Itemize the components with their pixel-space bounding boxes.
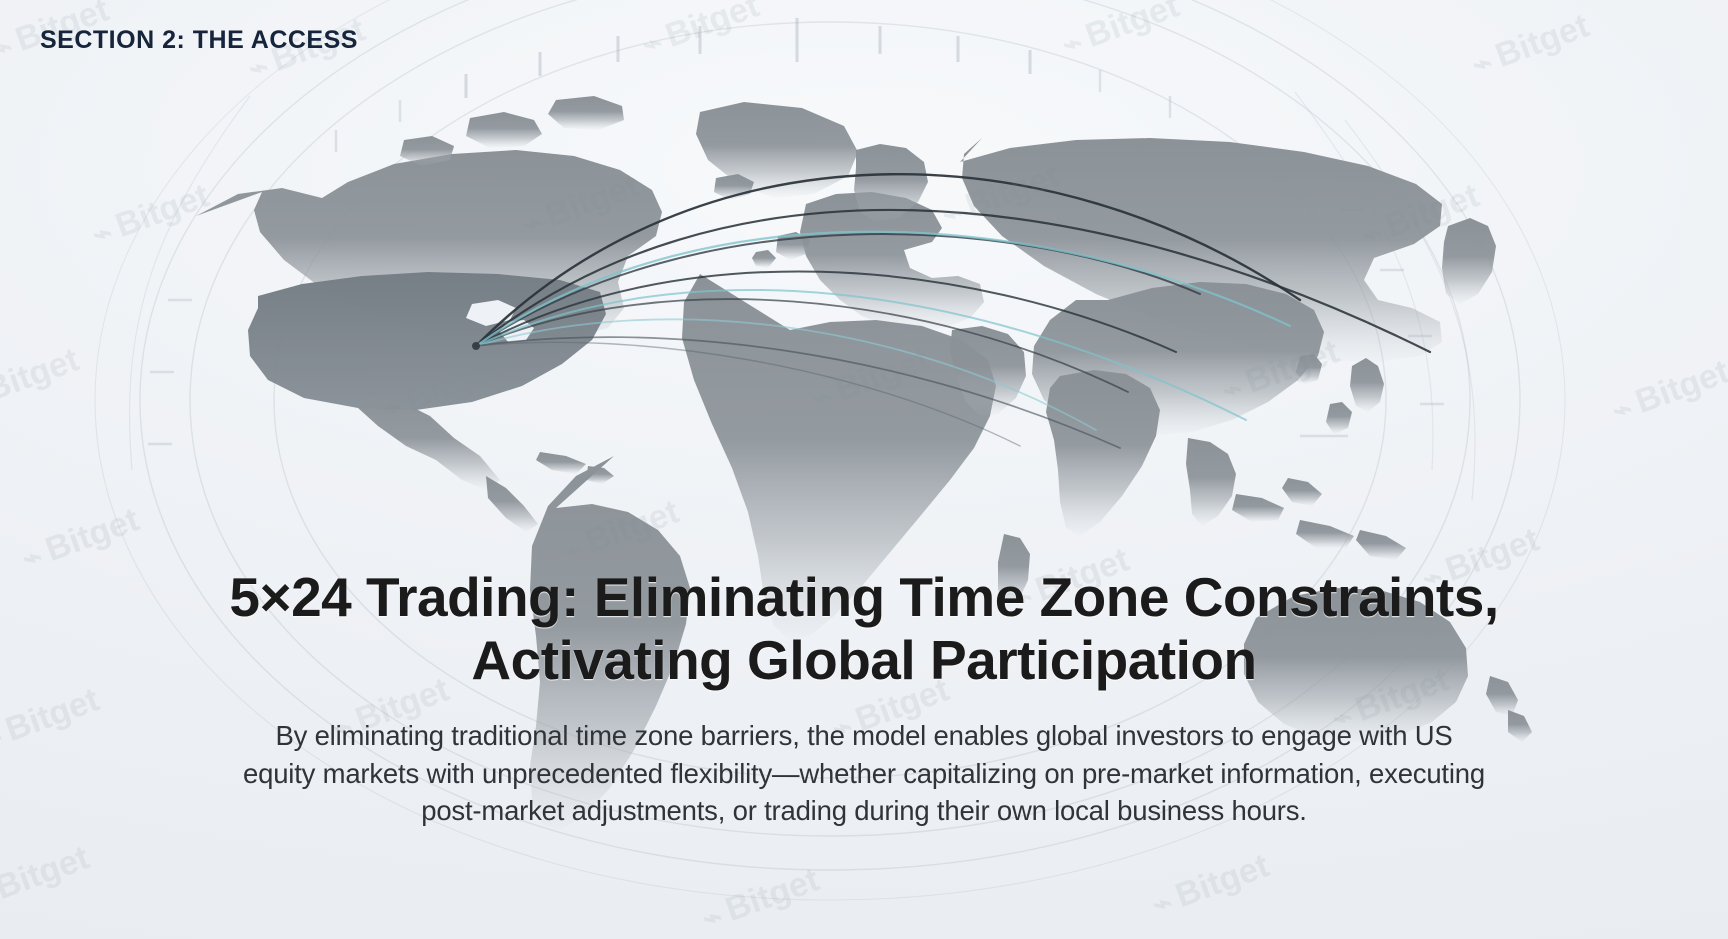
watermark-text: Bitget	[0, 838, 94, 907]
watermark-tile: ⌁Bitget	[1607, 352, 1728, 430]
watermark-tile: ⌁Bitget	[377, 350, 504, 428]
bitget-logo-icon: ⌁	[558, 530, 588, 569]
bitget-logo-icon: ⌁	[88, 214, 118, 253]
body-line-3: post-market adjustments, or trading duri…	[104, 792, 1624, 829]
watermark-text: Bitget	[541, 166, 645, 235]
body-paragraph: By eliminating traditional time zone bar…	[104, 717, 1624, 829]
watermark-text: Bitget	[1491, 6, 1595, 75]
watermark-text: Bitget	[41, 500, 145, 569]
watermark-tile: ⌁Bitget	[807, 340, 934, 418]
watermark-tile: ⌁Bitget	[697, 860, 824, 938]
watermark-text: Bitget	[661, 0, 765, 55]
bitget-logo-icon: ⌁	[1608, 390, 1638, 429]
bitget-logo-icon: ⌁	[1058, 24, 1088, 63]
watermark-tile: ⌁Bitget	[1057, 0, 1184, 65]
watermark-tile: ⌁Bitget	[1147, 846, 1274, 924]
watermark-text: Bitget	[1241, 332, 1345, 401]
page-title: 5×24 Trading: Eliminating Time Zone Cons…	[60, 566, 1668, 691]
section-label: SECTION 2: THE ACCESS	[40, 26, 358, 55]
watermark-text: Bitget	[111, 176, 215, 245]
body-line-1: By eliminating traditional time zone bar…	[104, 717, 1624, 754]
bitget-logo-icon: ⌁	[378, 388, 408, 427]
bitget-logo-icon: ⌁	[1468, 44, 1498, 83]
watermark-tile: ⌁Bitget	[0, 340, 84, 418]
watermark-tile: ⌁Bitget	[1217, 332, 1344, 410]
bitget-logo-icon: ⌁	[638, 24, 668, 63]
bitget-logo-icon: ⌁	[938, 194, 968, 233]
watermark-text: Bitget	[1381, 176, 1485, 245]
watermark-tile: ⌁Bitget	[937, 156, 1064, 234]
watermark-text: Bitget	[1171, 846, 1275, 915]
title-line-1: 5×24 Trading: Eliminating Time Zone Cons…	[60, 566, 1668, 629]
watermark-tile: ⌁Bitget	[557, 492, 684, 570]
watermark-text: Bitget	[0, 340, 84, 409]
bitget-logo-icon: ⌁	[1218, 370, 1248, 409]
slide-canvas: ⌁Bitget ⌁Bitget ⌁Bitget ⌁Bitget ⌁Bitget …	[0, 0, 1728, 939]
bitget-logo-icon: ⌁	[1358, 214, 1388, 253]
bitget-logo-icon: ⌁	[808, 378, 838, 417]
watermark-tile: ⌁Bitget	[1467, 6, 1594, 84]
watermark-text: Bitget	[581, 492, 685, 561]
watermark-text: Bitget	[1081, 0, 1185, 55]
bitget-logo-icon: ⌁	[1148, 884, 1178, 923]
watermark-tile: ⌁Bitget	[517, 166, 644, 244]
watermark-text: Bitget	[721, 860, 825, 929]
watermark-tile: ⌁Bitget	[87, 176, 214, 254]
headline-block: 5×24 Trading: Eliminating Time Zone Cons…	[0, 566, 1728, 830]
bitget-logo-icon: ⌁	[698, 898, 728, 937]
watermark-text: Bitget	[961, 156, 1065, 225]
watermark-tile: ⌁Bitget	[0, 838, 94, 916]
body-line-2: equity markets with unprecedented flexib…	[104, 755, 1624, 792]
watermark-tile: ⌁Bitget	[637, 0, 764, 65]
bitget-logo-icon: ⌁	[518, 204, 548, 243]
watermark-text: Bitget	[831, 340, 935, 409]
watermark-text: Bitget	[1631, 352, 1728, 421]
watermark-tile: ⌁Bitget	[1357, 176, 1484, 254]
title-line-2: Activating Global Participation	[60, 629, 1668, 692]
watermark-text: Bitget	[401, 350, 505, 419]
